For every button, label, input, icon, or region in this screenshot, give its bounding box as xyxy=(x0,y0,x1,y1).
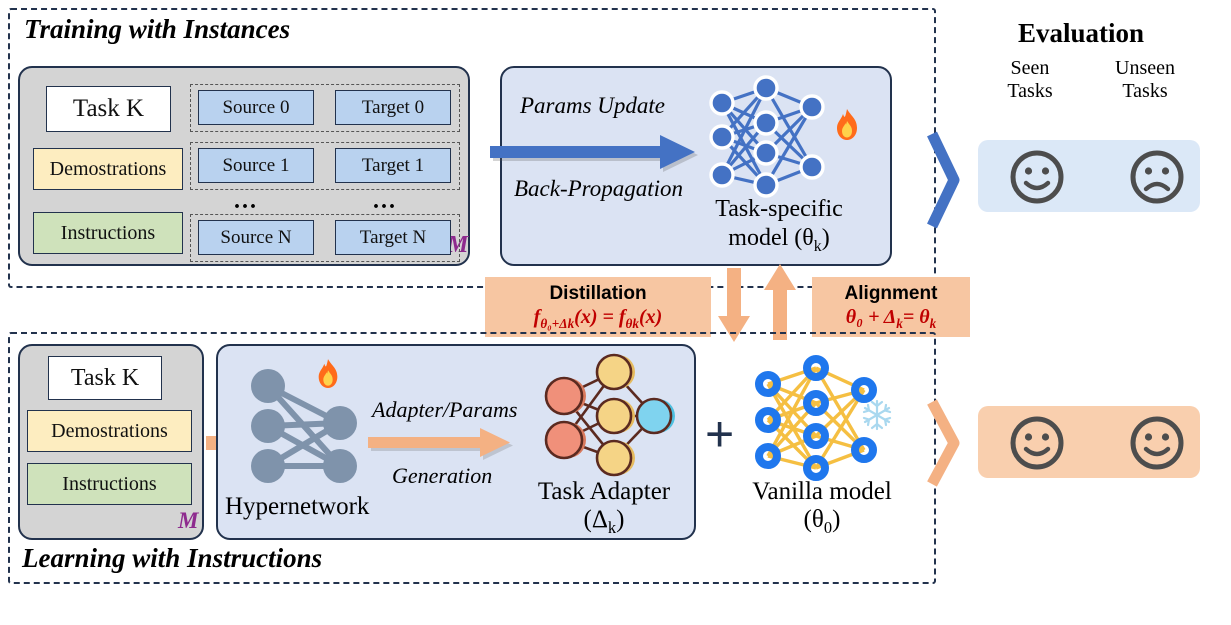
top-source-box: Source 0 xyxy=(198,90,314,125)
bottom-task-box: Task K xyxy=(48,356,162,400)
seen-tasks-label: Seen Tasks xyxy=(990,57,1070,103)
happy-face-icon xyxy=(1128,414,1186,472)
distillation-title: Distillation xyxy=(549,283,646,305)
generation-arrow xyxy=(368,428,516,462)
alignment-note: Alignment θ₀ + Δk= θk xyxy=(812,277,970,337)
bottom-instructions-box: Instructions xyxy=(27,463,192,505)
adapter-params-label: Adapter/Params xyxy=(372,397,517,423)
fire-icon xyxy=(314,358,342,390)
generation-label: Generation xyxy=(392,463,492,489)
bottom-chevron-icon xyxy=(928,398,962,488)
alignment-up-arrow xyxy=(762,264,798,340)
distillation-formula: fθ₀+Δk(x) = fθk(x) xyxy=(534,306,663,332)
task-adapter-caption-line2: (Δk) xyxy=(524,506,684,537)
task-specific-caption-line1: Task-specific xyxy=(704,196,854,223)
top-target-box: Target 0 xyxy=(335,90,451,125)
evaluation-title: Evaluation xyxy=(1018,18,1144,49)
hypernetwork-icon xyxy=(248,368,368,483)
distillation-note: Distillation fθ₀+Δk(x) = fθk(x) xyxy=(485,277,711,337)
alignment-formula: θ₀ + Δk= θk xyxy=(846,306,937,332)
top-target-box: Target 1 xyxy=(335,148,451,183)
unseen-tasks-label: Unseen Tasks xyxy=(1100,57,1190,103)
bottom-m-label: M xyxy=(178,508,198,534)
bottom-section-title: Learning with Instructions xyxy=(22,543,322,574)
task-specific-caption-line2: model (θk) xyxy=(704,225,854,256)
bottom-demos-box: Demostrations xyxy=(27,410,192,452)
happy-face-icon xyxy=(1008,414,1066,472)
snowflake-icon xyxy=(860,398,894,432)
top-chevron-icon xyxy=(928,130,962,230)
top-source-box: Source 1 xyxy=(198,148,314,183)
plus-sign: + xyxy=(705,405,734,463)
top-task-box: Task K xyxy=(46,86,171,132)
top-source-box: Source N xyxy=(198,220,314,255)
task-specific-caption: Task-specific model (θk) xyxy=(704,196,854,256)
params-update-arrow xyxy=(490,135,705,175)
alignment-title: Alignment xyxy=(845,283,938,305)
top-ellipsis-left: ... xyxy=(234,188,258,215)
fire-icon xyxy=(832,108,862,142)
hypernetwork-caption: Hypernetwork xyxy=(225,493,369,521)
params-update-label: Params Update xyxy=(520,93,665,119)
top-instructions-box: Instructions xyxy=(33,212,183,254)
top-section-title: Training with Instances xyxy=(24,14,290,45)
vanilla-model-caption-line1: Vanilla model xyxy=(742,478,902,506)
happy-face-icon xyxy=(1008,148,1066,206)
vanilla-model-caption-line2: (θ0) xyxy=(742,506,902,537)
vanilla-model-caption: Vanilla model (θ0) xyxy=(742,478,902,537)
back-propagation-label: Back-Propagation xyxy=(514,176,683,202)
sad-face-icon xyxy=(1128,148,1186,206)
top-target-box: Target N xyxy=(335,220,451,255)
task-adapter-caption: Task Adapter (Δk) xyxy=(524,478,684,537)
task-adapter-network-icon xyxy=(532,358,672,478)
top-ellipsis-right: ... xyxy=(373,188,397,215)
task-adapter-caption-line1: Task Adapter xyxy=(524,478,684,506)
task-specific-network-icon xyxy=(700,75,840,200)
top-demos-box: Demostrations xyxy=(33,148,183,190)
